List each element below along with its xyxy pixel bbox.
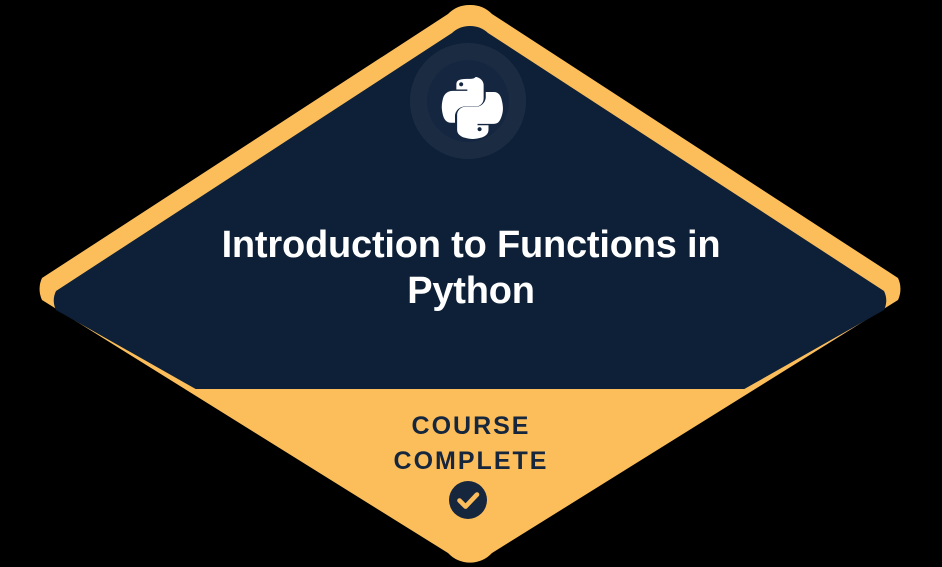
badge-graphic — [0, 0, 942, 567]
check-circle-icon — [449, 481, 487, 519]
badge-canvas: Introduction to Functions in Python COUR… — [0, 0, 942, 567]
navy-panel — [0, 0, 942, 389]
